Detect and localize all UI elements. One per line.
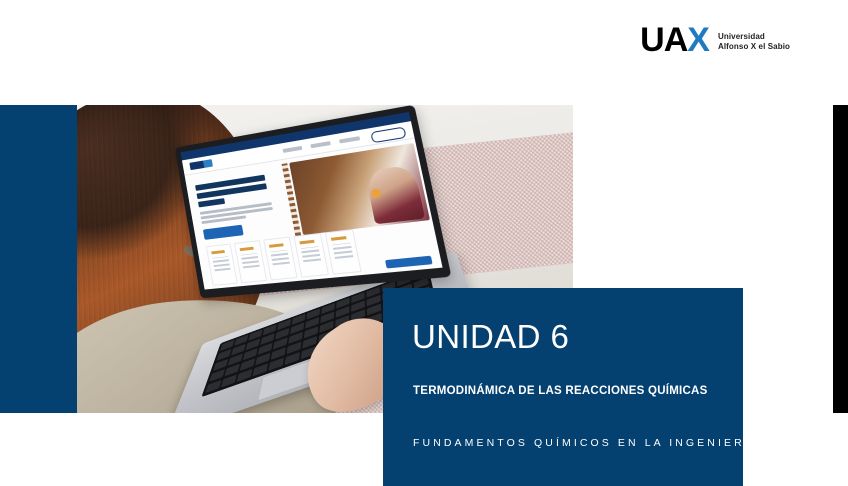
key: [205, 380, 221, 394]
uax-logo: UAX Universidad Alfonso X el Sabio: [640, 23, 790, 57]
website-card: [234, 240, 267, 283]
website-card-row: [206, 229, 362, 286]
presentation-slide: UAX Universidad Alfonso X el Sabio: [0, 0, 848, 477]
website-primary-button: [203, 225, 244, 240]
website-stat: 7.500: [273, 282, 297, 289]
website-card: [325, 229, 362, 275]
unit-title: UNIDAD 6: [412, 320, 569, 353]
uax-logo-wordmark: Universidad Alfonso X el Sabio: [718, 29, 790, 52]
website-stat: 3.000: [212, 288, 234, 290]
website-card: [206, 244, 238, 286]
website-footer-button: [385, 256, 433, 269]
course-name: FUNDAMENTOS QUÍMICOS EN LA INGENIERIA: [413, 437, 761, 449]
content-band: 3.000 7.500 72: [0, 105, 848, 413]
website-hero-image: [289, 143, 430, 235]
uax-logo-line-1: Universidad: [718, 32, 790, 42]
uax-logo-ua-text: UA: [640, 21, 687, 59]
left-blue-panel: [0, 105, 77, 413]
website-stat-value: 7.500: [273, 282, 296, 289]
website-stat-value: 3.000: [212, 288, 234, 290]
laptop-screen: 3.000 7.500 72: [181, 112, 443, 290]
uax-logo-line-2: Alfonso X el Sabio: [718, 42, 790, 52]
website-card: [293, 233, 329, 278]
heading-line: [198, 198, 225, 207]
uax-logo-mark: UAX: [640, 23, 709, 57]
unit-subtitle: TERMODINÁMICA DE LAS REACCIONES QUÍMICAS: [413, 385, 708, 397]
title-card: UNIDAD 6 TERMODINÁMICA DE LAS REACCIONES…: [383, 288, 743, 486]
website-card: [263, 237, 297, 281]
key: [221, 374, 237, 388]
right-black-panel: [833, 105, 848, 413]
uax-logo-x-text: X: [687, 21, 709, 59]
